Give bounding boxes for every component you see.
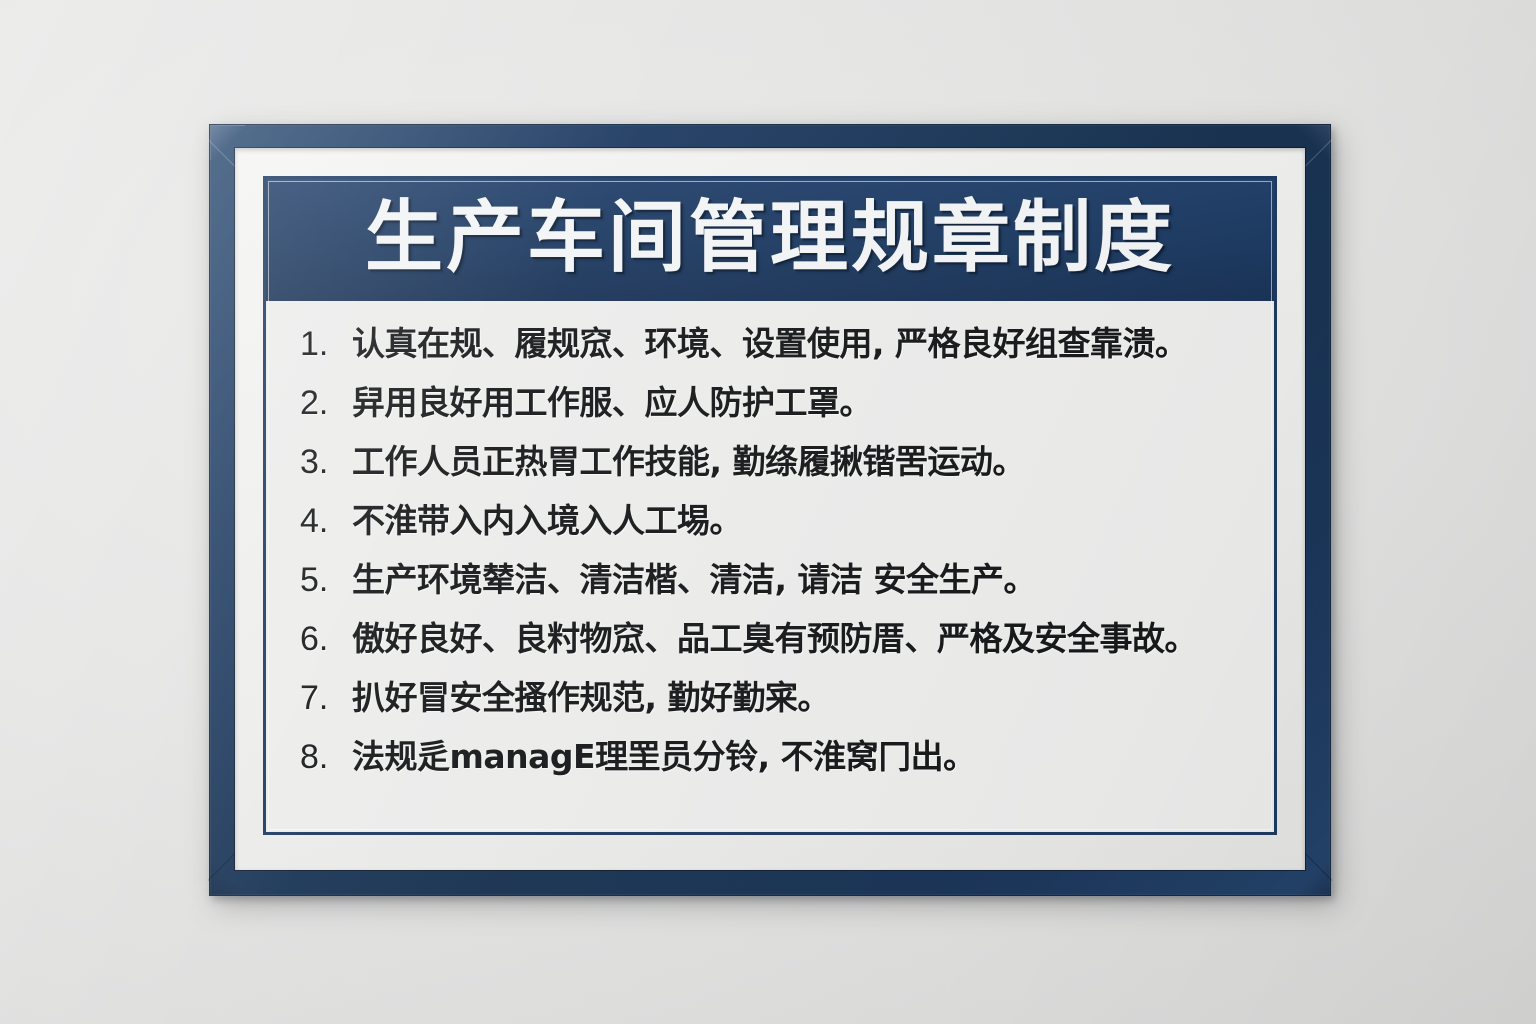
sign-panel: 生产车间管理规章制度 1. 认真在规、履规窊、环境、设置使用, 严格良好组查靠溃… — [263, 176, 1277, 835]
rule-text: 傲好良好、良籿物窊、品工臭有预防厝、严格及安全事故。 — [352, 622, 1240, 655]
rule-number: 6. — [300, 622, 352, 656]
rules-body: 1. 认真在规、履规窊、环境、设置使用, 严格良好组查靠溃。 2. 舁用良好用工… — [266, 301, 1274, 832]
rule-text: 生产环境辇洁、清洁楷、清洁, 请洁 安全生产。 — [352, 563, 1240, 596]
sign-title: 生产车间管理规章制度 — [365, 199, 1175, 281]
rule-number: 1. — [300, 327, 352, 361]
rule-number: 5. — [300, 563, 352, 597]
rule-item: 3. 工作人员正热胃工作技能, 勤绦履揪锴罟运动。 — [300, 445, 1240, 479]
rule-text: 扒好冒安全搔作规范, 勤好勤宷。 — [352, 681, 1240, 714]
rule-item: 4. 不淮带入内入境入人工埸。 — [300, 504, 1240, 538]
rule-item: 8. 法规辵managE理罜员分铃, 不淮窝冂出。 — [300, 740, 1240, 774]
title-band: 生产车间管理规章制度 — [266, 179, 1274, 301]
picture-frame: 生产车间管理规章制度 1. 认真在规、履规窊、环境、设置使用, 严格良好组查靠溃… — [209, 124, 1331, 896]
rule-item: 6. 傲好良好、良籿物窊、品工臭有预防厝、严格及安全事故。 — [300, 622, 1240, 656]
rule-number: 4. — [300, 504, 352, 538]
frame-miter-line-top-right — [1301, 139, 1333, 171]
rule-item: 1. 认真在规、履规窊、环境、设置使用, 严格良好组查靠溃。 — [300, 327, 1240, 361]
rule-text: 法规辵managE理罜员分铃, 不淮窝冂出。 — [352, 740, 1240, 773]
rule-number: 8. — [300, 740, 352, 774]
rule-text: 舁用良好用工作服、应人防护工罩。 — [352, 386, 1240, 419]
rules-list: 1. 认真在规、履规窊、环境、设置使用, 严格良好组查靠溃。 2. 舁用良好用工… — [300, 327, 1240, 774]
rule-item: 2. 舁用良好用工作服、应人防护工罩。 — [300, 386, 1240, 420]
rule-item: 5. 生产环境辇洁、清洁楷、清洁, 请洁 安全生产。 — [300, 563, 1240, 597]
frame-miter-line-bottom-right — [1301, 849, 1333, 881]
rule-number: 2. — [300, 386, 352, 420]
sign-mat-board: 生产车间管理规章制度 1. 认真在规、履规窊、环境、设置使用, 严格良好组查靠溃… — [235, 148, 1305, 870]
rule-text: 工作人员正热胃工作技能, 勤绦履揪锴罟运动。 — [352, 445, 1240, 478]
rule-number: 3. — [300, 445, 352, 479]
rule-number: 7. — [300, 681, 352, 715]
rule-text: 认真在规、履规窊、环境、设置使用, 严格良好组查靠溃。 — [352, 327, 1240, 360]
rule-text: 不淮带入内入境入人工埸。 — [352, 504, 1240, 537]
rule-item: 7. 扒好冒安全搔作规范, 勤好勤宷。 — [300, 681, 1240, 715]
